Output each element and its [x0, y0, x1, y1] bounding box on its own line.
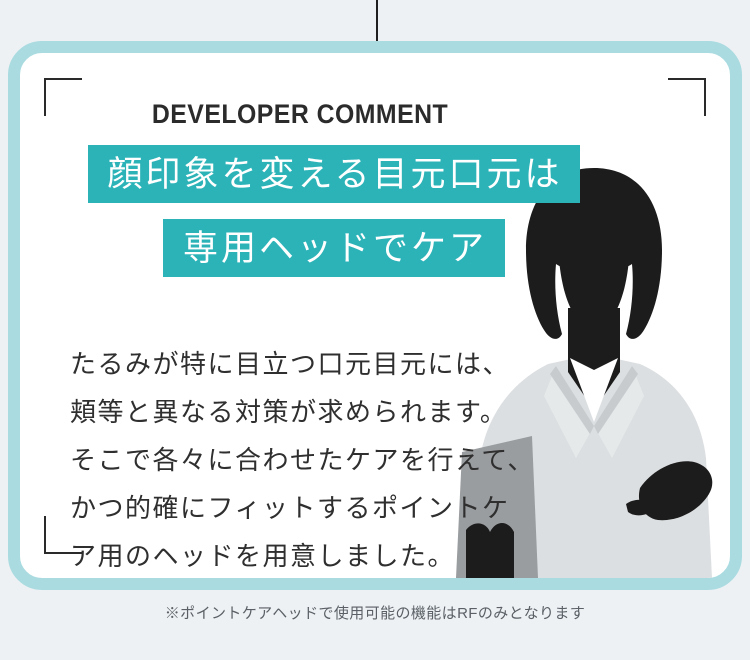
- body-line: かつ的確にフィットするポイントケ: [70, 485, 570, 533]
- headline-line-2-wrapper: 専用ヘッドでケア: [20, 219, 648, 277]
- body-line: たるみが特に目立つ口元目元には、: [70, 341, 570, 389]
- body-line: そこで各々に合わせたケアを行えて、: [70, 437, 570, 485]
- headline-line-1-wrapper: 顔印象を変える目元口元は: [20, 145, 648, 203]
- body-copy: たるみが特に目立つ口元目元には、 頬等と異なる対策が求められます。 そこで各々に…: [70, 341, 570, 581]
- headline-line-1: 顔印象を変える目元口元は: [88, 145, 581, 203]
- developer-comment-card: DEVELOPER COMMENT 顔印象を変える目元口元は 専用ヘッドでケア …: [8, 41, 742, 590]
- body-line: 頬等と異なる対策が求められます。: [70, 389, 570, 437]
- page-title: DEVELOPER COMMENT: [42, 99, 557, 130]
- footnote-text: ※ポイントケアヘッドで使用可能の機能はRFのみとなります: [0, 602, 750, 623]
- body-line: ア用のヘッドを用意しました。: [70, 533, 570, 581]
- promo-panel: DEVELOPER COMMENT 顔印象を変える目元口元は 専用ヘッドでケア …: [0, 0, 750, 660]
- card-inner: DEVELOPER COMMENT 顔印象を変える目元口元は 専用ヘッドでケア …: [20, 53, 730, 578]
- corner-bracket-bottom-right: [668, 516, 706, 554]
- corner-bracket-top-right: [668, 78, 706, 116]
- headline-block: 顔印象を変える目元口元は 専用ヘッドでケア: [20, 145, 648, 277]
- headline-line-2: 専用ヘッドでケア: [163, 219, 505, 277]
